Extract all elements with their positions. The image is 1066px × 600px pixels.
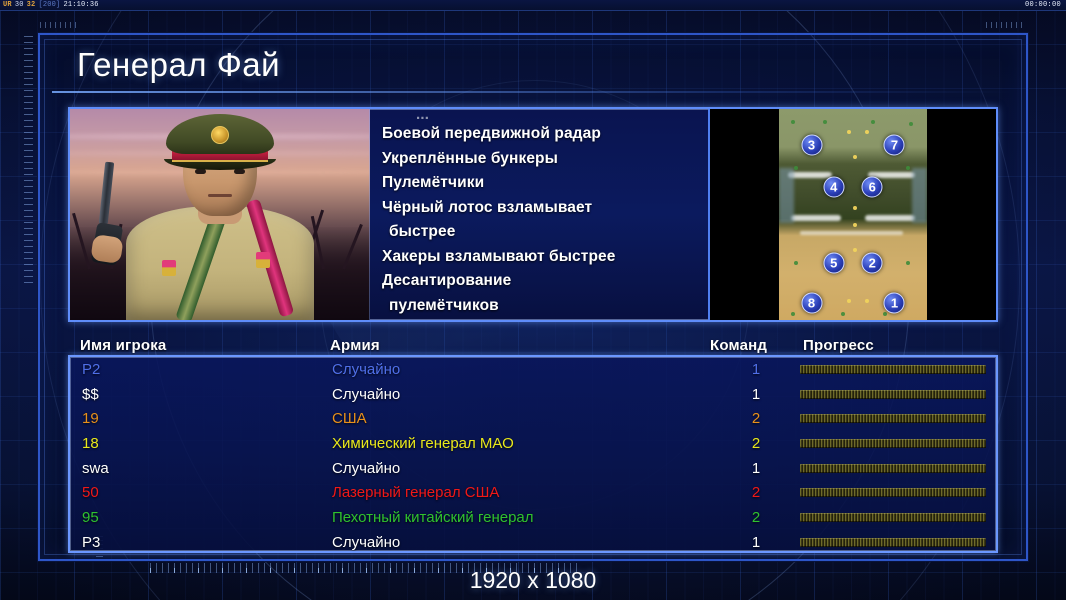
game-lobby-screen: UR 30 32 [200] 21:10:36 00:00:00 Генерал… — [0, 0, 1066, 600]
cell-team: 1 — [712, 460, 800, 477]
cell-army: Пехотный китайский генерал — [332, 509, 712, 526]
map-preview-panel[interactable]: 37465281 — [708, 109, 996, 320]
cell-player-name: $$ — [82, 386, 332, 403]
status-prefix-label: UR — [3, 1, 12, 9]
cell-team: 1 — [712, 534, 800, 551]
cell-team: 2 — [712, 410, 800, 427]
map-start-position-5[interactable]: 5 — [823, 253, 844, 274]
progress-bar — [800, 464, 986, 473]
cell-progress — [800, 439, 996, 448]
status-bar-timer: 00:00:00 — [1025, 1, 1063, 9]
column-header-army: Армия — [330, 337, 710, 354]
cell-progress — [800, 464, 996, 473]
ability-line: Боевой передвижной радар — [382, 122, 698, 147]
status-num1-label: 30 — [15, 1, 24, 9]
cell-army: Случайно — [332, 460, 712, 477]
table-row[interactable]: 95Пехотный китайский генерал2 — [70, 505, 996, 530]
ability-line: Хакеры взламывают быстрее — [382, 245, 698, 270]
cell-army: Случайно — [332, 534, 712, 551]
table-row[interactable]: 50Лазерный генерал США2 — [70, 480, 996, 505]
ability-line: быстрее — [382, 220, 698, 245]
cell-progress — [800, 414, 996, 423]
cell-player-name: 95 — [82, 509, 332, 526]
map-start-position-6[interactable]: 6 — [862, 177, 883, 198]
cell-progress — [800, 488, 996, 497]
cell-player-name: P3 — [82, 534, 332, 551]
ability-line: Чёрный лотос взламывает — [382, 196, 698, 221]
ruler-decoration-left — [24, 36, 33, 286]
cell-team: 1 — [712, 386, 800, 403]
cell-player-name: P2 — [82, 361, 332, 378]
status-bar: UR 30 32 [200] 21:10:36 00:00:00 — [0, 0, 1066, 11]
map-start-position-2[interactable]: 2 — [862, 253, 883, 274]
status-num2-label: 32 — [27, 1, 36, 9]
table-row[interactable]: 19США2 — [70, 406, 996, 431]
cell-player-name: 19 — [82, 410, 332, 427]
progress-bar — [800, 414, 986, 423]
progress-bar — [800, 390, 986, 399]
progress-bar — [800, 513, 986, 522]
column-header-progress: Прогресс — [798, 337, 998, 354]
cell-team: 1 — [712, 361, 800, 378]
corner-tick-decoration — [40, 22, 80, 28]
clipped-text-line: ... — [416, 109, 429, 123]
table-row[interactable]: $$Случайно1 — [70, 382, 996, 407]
status-bracket-label: [200] — [38, 1, 60, 9]
player-list-body: P2Случайно1$$Случайно119США218Химический… — [68, 355, 998, 553]
cell-army: Случайно — [332, 386, 712, 403]
cell-progress — [800, 513, 996, 522]
status-clock-label: 21:10:36 — [63, 1, 98, 9]
cell-player-name: 18 — [82, 435, 332, 452]
map-start-position-1[interactable]: 1 — [884, 293, 905, 314]
status-bar-left: UR 30 32 [200] 21:10:36 — [3, 1, 99, 9]
cell-army: Случайно — [332, 361, 712, 378]
title-bar: Генерал Фай — [52, 40, 1012, 90]
page-title: Генерал Фай — [52, 46, 280, 84]
cell-army: Химический генерал МАО — [332, 435, 712, 452]
map-preview-image[interactable]: 37465281 — [779, 109, 927, 320]
ability-line: Пулемётчики — [382, 171, 698, 196]
map-start-position-8[interactable]: 8 — [801, 293, 822, 314]
column-header-player-name: Имя игрока — [80, 337, 330, 354]
progress-bar — [800, 439, 986, 448]
map-start-position-3[interactable]: 3 — [801, 134, 822, 155]
cell-team: 2 — [712, 509, 800, 526]
resolution-label: 1920 x 1080 — [0, 567, 1066, 594]
ability-line: Десантирование — [382, 269, 698, 294]
player-list-header: Имя игрока Армия Команд Прогресс — [68, 333, 998, 355]
ability-line: пулемётчиков — [382, 294, 698, 319]
cell-player-name: swa — [82, 460, 332, 477]
cell-team: 2 — [712, 435, 800, 452]
general-abilities-list: ... Боевой передвижной радарУкреплённые … — [370, 109, 708, 320]
player-list-section: Имя игрока Армия Команд Прогресс P2Случа… — [68, 333, 998, 555]
map-start-position-7[interactable]: 7 — [884, 134, 905, 155]
table-row[interactable]: 18Химический генерал МАО2 — [70, 431, 996, 456]
progress-bar — [800, 365, 986, 374]
table-row[interactable]: P2Случайно1 — [70, 357, 996, 382]
ability-line: Укреплённые бункеры — [382, 147, 698, 172]
cell-progress — [800, 390, 996, 399]
cell-team: 2 — [712, 484, 800, 501]
cell-player-name: 50 — [82, 484, 332, 501]
ability-lines-container: Боевой передвижной радарУкреплённые бунк… — [382, 122, 698, 318]
cell-army: Лазерный генерал США — [332, 484, 712, 501]
progress-bar — [800, 488, 986, 497]
column-header-team: Команд — [710, 337, 798, 354]
cell-progress — [800, 538, 996, 547]
general-portrait-image — [70, 109, 370, 320]
general-info-panel: ... Боевой передвижной радарУкреплённые … — [68, 107, 998, 322]
cell-progress — [800, 365, 996, 374]
cell-army: США — [332, 410, 712, 427]
map-start-position-4[interactable]: 4 — [823, 177, 844, 198]
progress-bar — [800, 538, 986, 547]
table-row[interactable]: swaСлучайно1 — [70, 456, 996, 481]
corner-tick-decoration — [986, 22, 1026, 28]
table-row[interactable]: P3Случайно1 — [70, 530, 996, 553]
